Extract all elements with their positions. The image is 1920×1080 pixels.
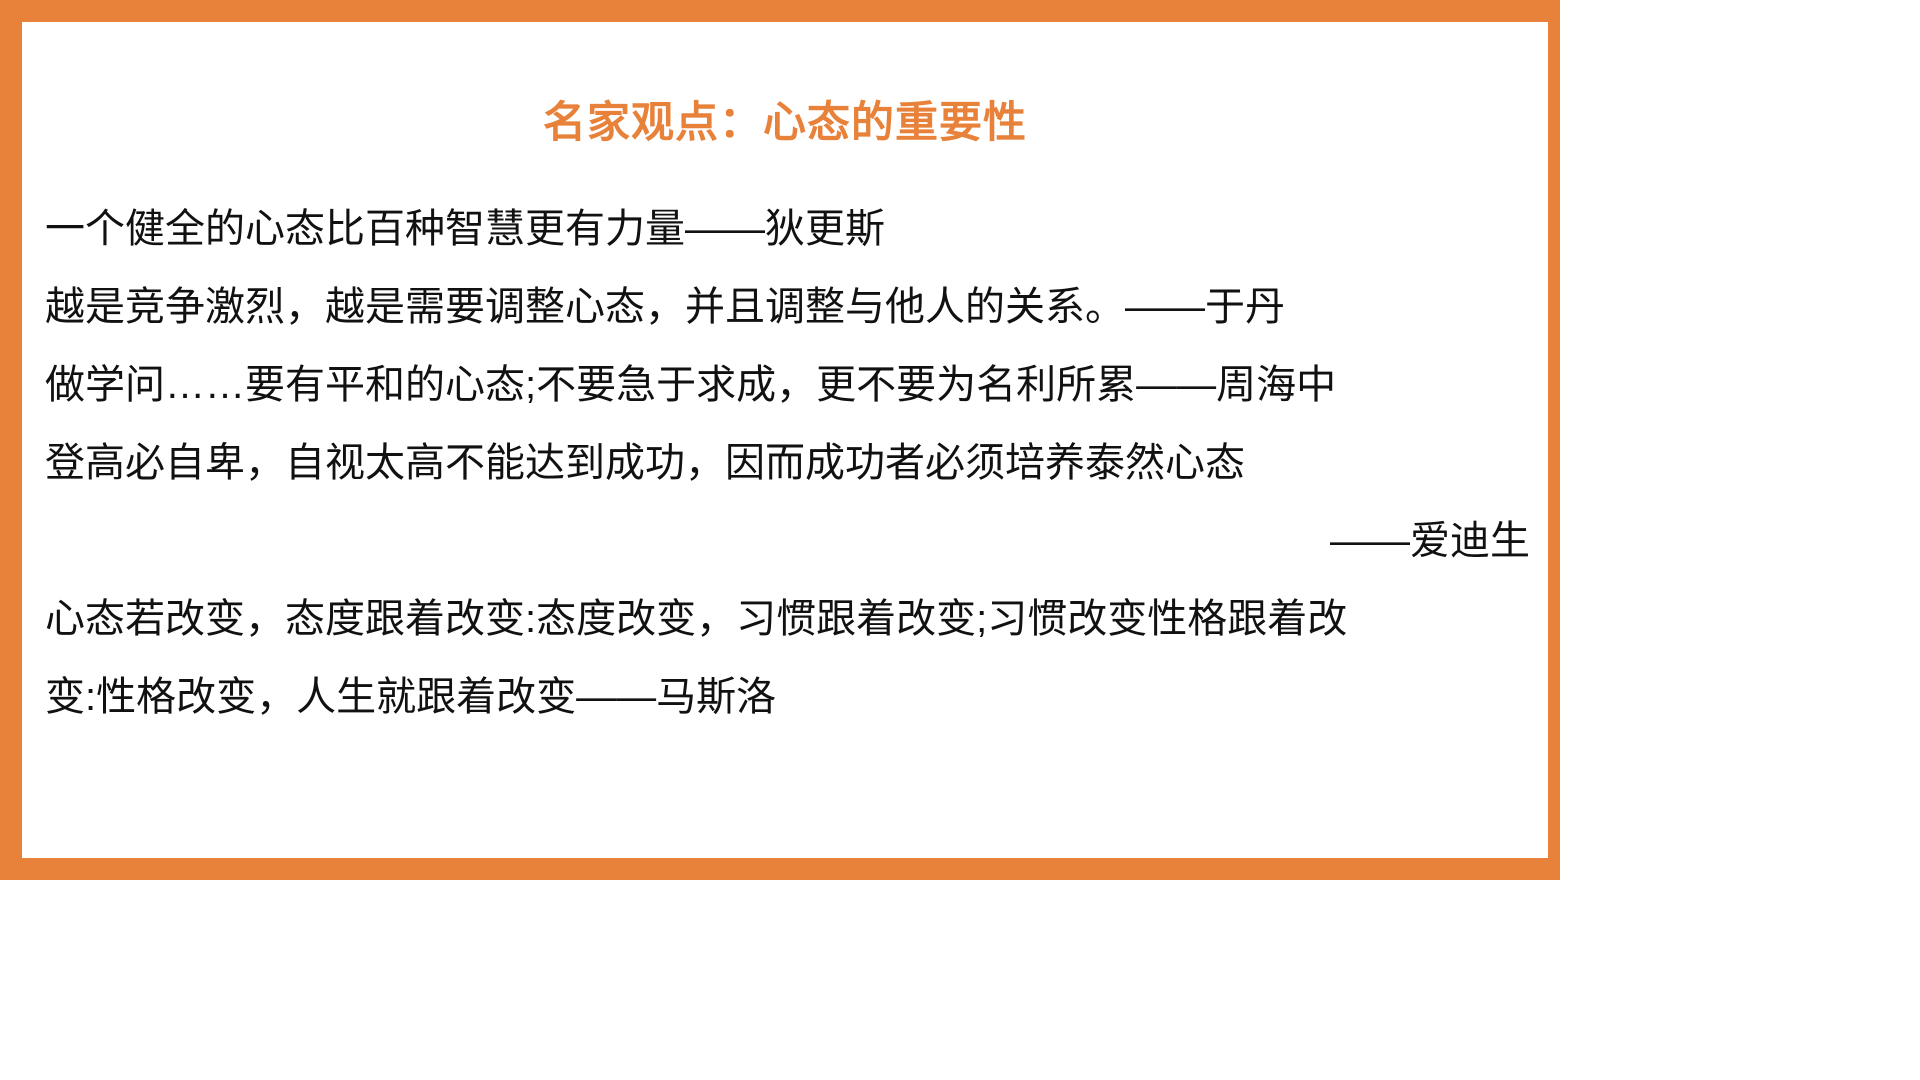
quote-attribution-edison: ——爱迪生 bbox=[45, 502, 1530, 580]
border-top bbox=[0, 0, 1560, 22]
quote-line-maslow-part1: 心态若改变，态度跟着改变:态度改变，习惯跟着改变;习惯改变性格跟着改 bbox=[45, 580, 1530, 658]
quote-line-zhouhaizhong: 做学问……要有平和的心态;不要急于求成，更不要为名利所累——周海中 bbox=[45, 346, 1530, 424]
quote-line-dickens: 一个健全的心态比百种智慧更有力量——狄更斯 bbox=[45, 190, 1530, 268]
slide-canvas: 名家观点：心态的重要性 一个健全的心态比百种智慧更有力量——狄更斯 越是竞争激烈… bbox=[0, 0, 1560, 880]
quote-list: 一个健全的心态比百种智慧更有力量——狄更斯 越是竞争激烈，越是需要调整心态，并且… bbox=[45, 190, 1530, 736]
quote-line-maslow-part2: 变:性格改变，人生就跟着改变——马斯洛 bbox=[45, 658, 1530, 736]
slide-title: 名家观点：心态的重要性 bbox=[22, 100, 1548, 147]
slide-content-area: 名家观点：心态的重要性 一个健全的心态比百种智慧更有力量——狄更斯 越是竞争激烈… bbox=[22, 22, 1548, 858]
border-right bbox=[1548, 0, 1560, 880]
border-bottom bbox=[0, 858, 1560, 880]
quote-line-yudan: 越是竞争激烈，越是需要调整心态，并且调整与他人的关系。——于丹 bbox=[45, 268, 1530, 346]
quote-line-edison-text: 登高必自卑，自视太高不能达到成功，因而成功者必须培养泰然心态 bbox=[45, 424, 1530, 502]
border-left bbox=[0, 0, 22, 880]
